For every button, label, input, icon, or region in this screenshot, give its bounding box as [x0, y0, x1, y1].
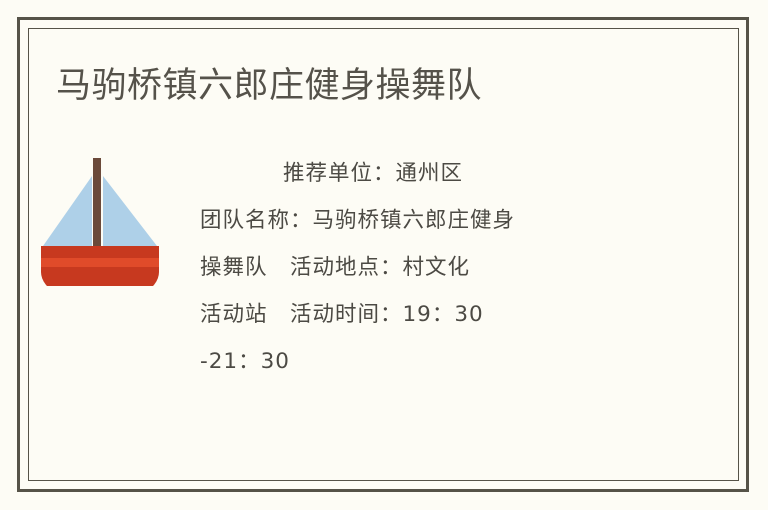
detail-line-place-cont-and-time: 活动站 活动时间：19：30 — [200, 291, 698, 338]
detail-line-team-name: 团队名称：马驹桥镇六郎庄健身 — [200, 197, 698, 244]
sailboat-icon — [0, 150, 200, 286]
card-content: 推荐单位：通州区 团队名称：马驹桥镇六郎庄健身 操舞队 活动地点：村文化 活动站… — [0, 150, 768, 385]
page-title: 马驹桥镇六郎庄健身操舞队 — [56, 62, 482, 110]
detail-text-block: 推荐单位：通州区 团队名称：马驹桥镇六郎庄健身 操舞队 活动地点：村文化 活动站… — [200, 150, 768, 385]
detail-line-recommending-unit: 推荐单位：通州区 — [200, 150, 698, 197]
detail-line-time-cont: -21：30 — [200, 338, 698, 385]
info-card: 马驹桥镇六郎庄健身操舞队 推荐单位：通州区 团队名称：马驹桥镇六郎庄健身 操舞队… — [0, 0, 768, 510]
detail-line-team-name-cont-and-place: 操舞队 活动地点：村文化 — [200, 244, 698, 291]
